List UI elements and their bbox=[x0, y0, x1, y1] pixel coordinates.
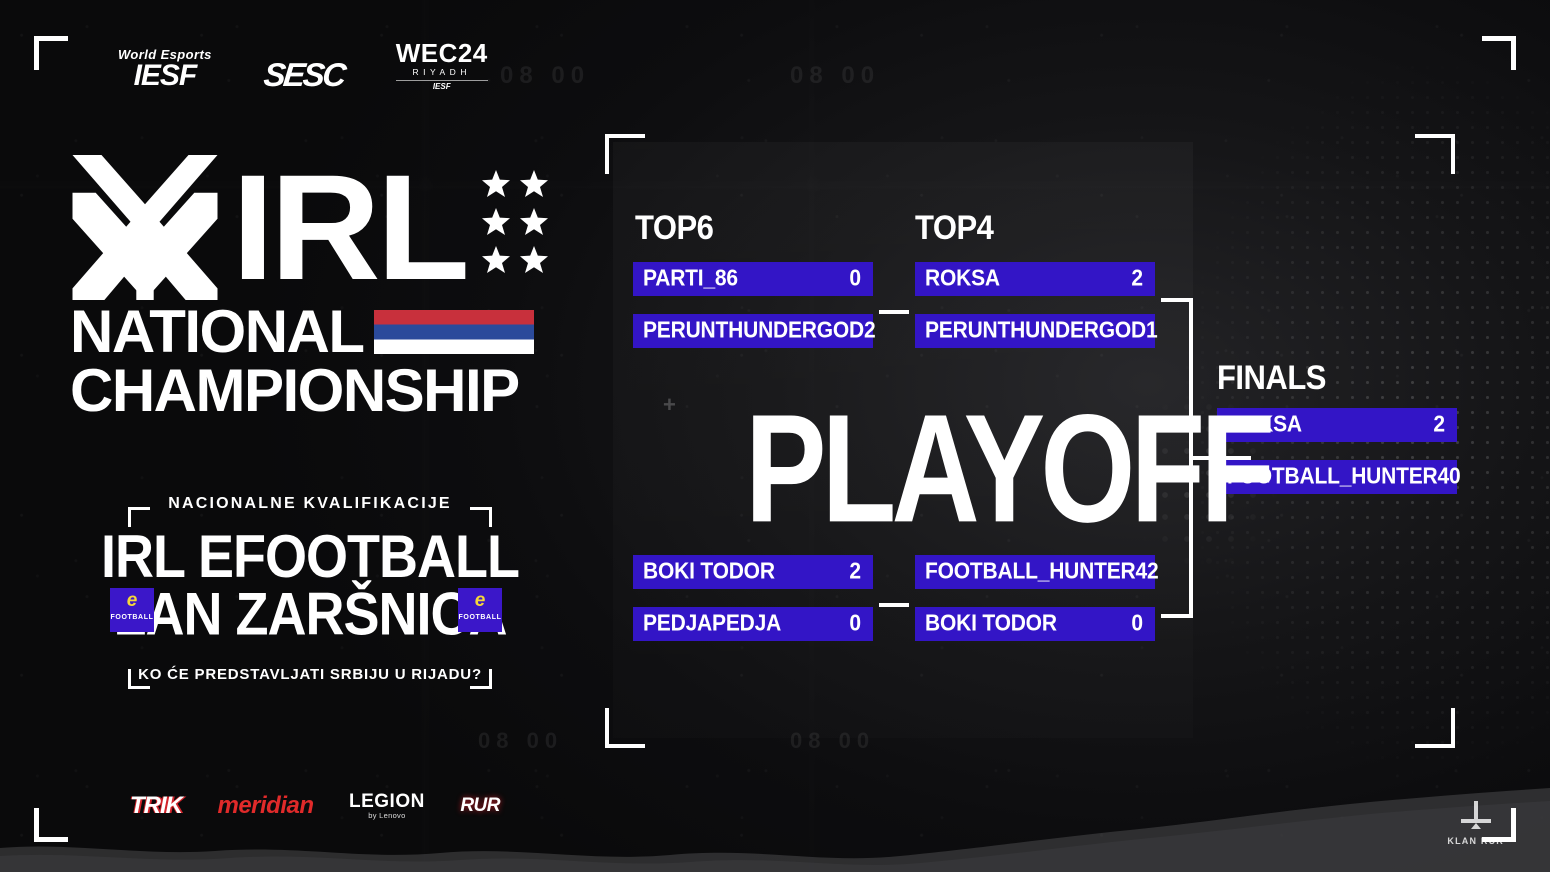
connector-dash-top bbox=[879, 310, 909, 314]
match-row[interactable]: PARTI_86 0 bbox=[633, 262, 873, 296]
team-name: PERUNTHUNDERGOD bbox=[643, 318, 864, 344]
team-score: 2 bbox=[849, 559, 861, 585]
frame-corner-bottom-left bbox=[34, 808, 68, 842]
subtitle-question: KO ĆE PREDSTAVLJATI SRBIJU U RIJADU? bbox=[100, 666, 520, 683]
efootball-label-left: FOOTBALL bbox=[110, 614, 154, 621]
sesc-logo: SESC bbox=[262, 58, 345, 91]
team-score: 2 bbox=[864, 318, 876, 344]
round-label-top4: TOP4 bbox=[915, 208, 993, 248]
subtitle-corner-bottom-left bbox=[128, 669, 150, 689]
hero-championship-text: CHAMPIONSHIP bbox=[70, 362, 570, 419]
team-name: ROKSA bbox=[925, 266, 1000, 292]
team-score: 0 bbox=[849, 611, 861, 637]
efootball-mark-right: e bbox=[458, 588, 502, 614]
bg-numeral-top2: 08 00 bbox=[790, 62, 880, 90]
team-name: PARTI_86 bbox=[643, 266, 738, 292]
klan-rur-watermark: KLAN RUR bbox=[1447, 801, 1504, 846]
match-row[interactable]: PERUNTHUNDERGOD 2 bbox=[633, 314, 873, 348]
efootball-label-right: FOOTBALL bbox=[458, 614, 502, 621]
team-name: PEDJAPEDJA bbox=[643, 611, 781, 637]
subtitle-title-line2: LAN ZARŠNICA bbox=[100, 586, 520, 643]
panel-corner-bottom-left bbox=[605, 708, 645, 748]
panel-corner-top-left bbox=[605, 134, 645, 174]
serbia-flag-icon bbox=[374, 310, 534, 354]
panel-corner-bottom-right bbox=[1415, 708, 1455, 748]
team-score: 2 bbox=[1433, 412, 1445, 438]
subtitle-corner-bottom-right bbox=[470, 669, 492, 689]
sponsor-legion: LEGION by Lenovo bbox=[349, 792, 425, 820]
team-score: 0 bbox=[1131, 611, 1143, 637]
subtitle-title-line1: IRL EFOOTBALL bbox=[100, 529, 520, 586]
watermark-text: KLAN RUR bbox=[1447, 836, 1504, 846]
team-name: BOKI TODOR bbox=[925, 611, 1057, 637]
team-score: 2 bbox=[1147, 559, 1159, 585]
match-row[interactable]: FOOTBALL_HUNTER4 2 bbox=[915, 555, 1155, 589]
sponsor-legion-name: LEGION bbox=[349, 792, 425, 811]
team-name: PERUNTHUNDERGOD bbox=[925, 318, 1146, 344]
frame-corner-top-left bbox=[34, 36, 68, 70]
subtitle-block: NACIONALNE KVALIFIKACIJE IRL EFOOTBALL L… bbox=[100, 495, 520, 683]
wec24-org: IESF bbox=[396, 80, 488, 91]
poster-canvas: 08 00 08 00 08 00 08 00 World Esports IE… bbox=[0, 0, 1550, 872]
team-score: 2 bbox=[1131, 266, 1143, 292]
panel-corner-top-right bbox=[1415, 134, 1455, 174]
sponsor-meridian: meridian bbox=[217, 792, 313, 820]
match-top4-1[interactable]: ROKSA 2 PERUNTHUNDERGOD 1 bbox=[915, 262, 1155, 348]
decor-plus-icon: + bbox=[663, 392, 676, 418]
team-score: 0 bbox=[1449, 464, 1461, 490]
event-logo: IRL NATIONAL CHAMPIONSHIP bbox=[70, 155, 570, 419]
six-stars-icon bbox=[480, 170, 552, 286]
team-score: 0 bbox=[849, 266, 861, 292]
match-row[interactable]: BOKI TODOR 0 bbox=[915, 607, 1155, 641]
sponsor-trik: TRIK bbox=[130, 792, 182, 820]
team-score: 1 bbox=[1146, 318, 1158, 344]
irl-x-emblem-icon bbox=[70, 155, 220, 300]
round-label-top6: TOP6 bbox=[635, 208, 713, 248]
sponsor-rur: RUR bbox=[460, 795, 500, 817]
wec24-wordmark: WEC24 bbox=[396, 40, 488, 66]
bg-numeral-bottom-left: 08 00 bbox=[478, 728, 563, 754]
match-row[interactable]: PEDJAPEDJA 0 bbox=[633, 607, 873, 641]
playoff-bracket-panel: + TOP6 TOP4 FINALS PARTI_86 0 PERUNTHUND… bbox=[605, 130, 1465, 750]
iesf-logo: World Esports IESF bbox=[118, 48, 212, 91]
hero-national-text: NATIONAL bbox=[70, 304, 364, 360]
match-top4-2[interactable]: FOOTBALL_HUNTER4 2 BOKI TODOR 0 bbox=[915, 555, 1155, 641]
iesf-wordmark: IESF bbox=[118, 62, 212, 91]
connector-dash-bottom bbox=[879, 603, 909, 607]
match-top6-1[interactable]: PARTI_86 0 PERUNTHUNDERGOD 2 bbox=[633, 262, 873, 348]
match-top6-2[interactable]: BOKI TODOR 2 PEDJAPEDJA 0 bbox=[633, 555, 873, 641]
wec24-logo: WEC24 RIYADH IESF bbox=[396, 40, 488, 91]
match-row[interactable]: BOKI TODOR 2 bbox=[633, 555, 873, 589]
sponsor-legion-sub: by Lenovo bbox=[349, 811, 425, 820]
match-row[interactable]: PERUNTHUNDERGOD 1 bbox=[915, 314, 1155, 348]
frame-corner-top-right bbox=[1482, 36, 1516, 70]
subtitle-kicker: NACIONALNE KVALIFIKACIJE bbox=[100, 495, 520, 513]
efootball-mark-left: e bbox=[110, 588, 154, 614]
match-row[interactable]: ROKSA 2 bbox=[915, 262, 1155, 296]
efootball-badge-right: e FOOTBALL bbox=[458, 588, 502, 632]
efootball-badge-left: e FOOTBALL bbox=[110, 588, 154, 632]
team-name: BOKI TODOR bbox=[643, 559, 775, 585]
sponsor-strip: TRIK meridian LEGION by Lenovo RUR bbox=[130, 792, 500, 820]
bg-numeral-top: 08 00 bbox=[500, 62, 590, 90]
team-name: FOOTBALL_HUNTER4 bbox=[925, 559, 1147, 585]
playoff-title: PLAYOFF bbox=[745, 392, 1270, 546]
irl-letters: IRL bbox=[232, 163, 466, 292]
klan-rur-icon bbox=[1455, 801, 1497, 831]
partner-logo-strip: World Esports IESF SESC WEC24 RIYADH IES… bbox=[118, 40, 488, 91]
